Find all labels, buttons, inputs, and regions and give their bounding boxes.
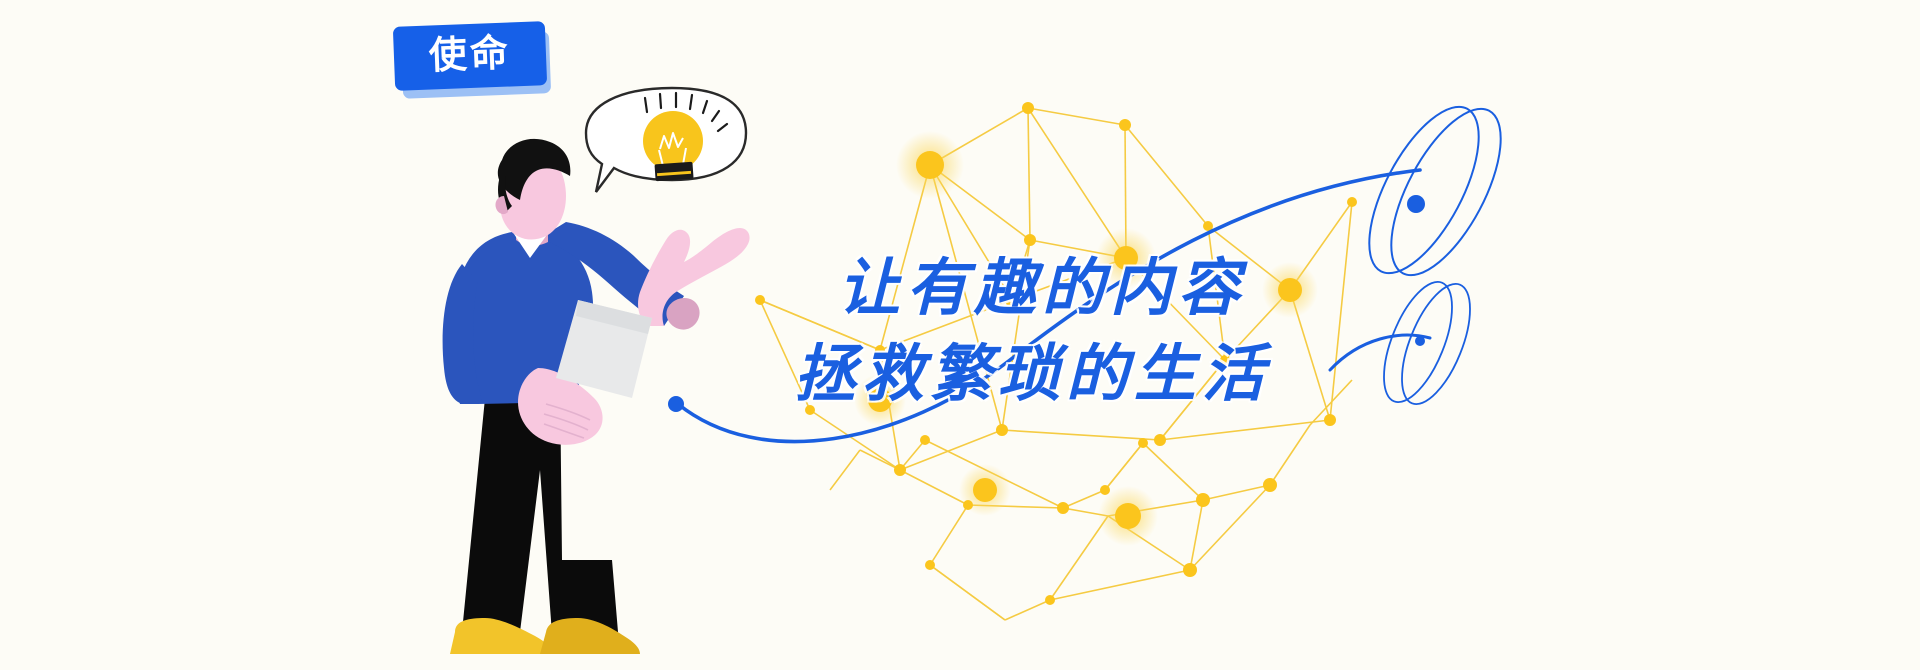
badge-card: 使命 <box>393 21 547 91</box>
holding-hand <box>518 368 603 445</box>
lightbulb-idea-bubble <box>586 88 746 192</box>
bulb-base <box>654 162 693 182</box>
pointing-hand <box>638 228 750 326</box>
trousers <box>462 378 618 634</box>
sleeve-pointing <box>540 222 684 326</box>
shoe-right <box>540 618 640 654</box>
hips <box>487 378 560 420</box>
hand-thumb-shadow <box>666 298 699 330</box>
bulb-rays <box>645 93 727 131</box>
bulb-glass <box>643 111 703 171</box>
head <box>499 150 566 239</box>
bulb-filament <box>660 133 683 149</box>
sleeve-left <box>443 264 482 404</box>
badge-label: 使命 <box>428 34 511 75</box>
shoe-left <box>450 618 552 654</box>
bulb-base-stripe <box>657 171 691 176</box>
headline: 让有趣的内容 拯救繁琐的生活 <box>838 246 1538 418</box>
bubble-shape <box>586 88 746 192</box>
tablet <box>556 300 652 398</box>
neck <box>516 210 548 246</box>
curve-end-dot <box>668 396 684 412</box>
ear <box>495 196 508 214</box>
bulb-filament-legs <box>659 148 686 170</box>
hand-fingers <box>544 404 590 438</box>
sideburn <box>498 176 512 212</box>
hair <box>498 139 571 200</box>
mission-badge[interactable]: 使命 <box>388 14 568 114</box>
headline-line-1: 让有趣的内容 <box>838 246 1538 332</box>
orbit-center-dot-large <box>1407 195 1425 213</box>
shirt-body <box>453 232 593 404</box>
tablet-top-band <box>576 300 652 334</box>
collar <box>510 222 552 258</box>
headline-line-2: 拯救繁琐的生活 <box>794 332 1538 418</box>
mission-banner: 使命 让有趣的内容 拯救繁琐的生活 <box>0 0 1920 670</box>
